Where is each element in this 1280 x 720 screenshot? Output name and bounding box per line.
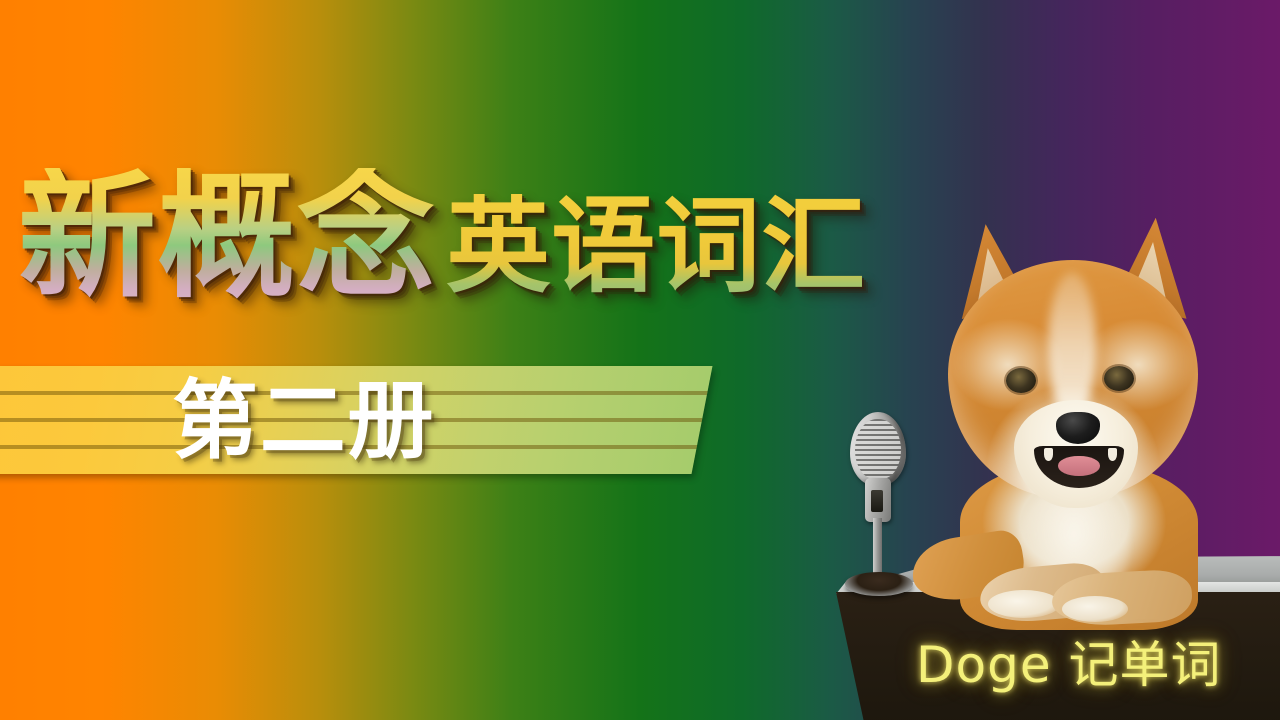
doge-tooth-right [1108,448,1117,461]
title-secondary: 英语词汇 [446,194,866,306]
doge-eye-right [1104,366,1134,391]
microphone-base [845,572,913,596]
doge-eye-left [1006,368,1036,393]
microphone-stem [873,518,882,580]
thumbnail-canvas: 新概念 英语词汇 第二册 [0,0,1280,720]
volume-label: 第二册 [172,378,435,464]
doge-paw-left-toes [988,590,1060,618]
title-block: 新概念 英语词汇 [18,168,1018,328]
title-line: 新概念 英语词汇 [18,168,866,306]
doge-tongue [1058,456,1100,476]
doge-tooth-left [1044,448,1053,461]
microphone-switch [871,490,883,512]
doge-shiba-inu [922,218,1252,618]
microphone-grille [855,419,901,479]
channel-name-label: Doge 记单词 [916,640,1222,690]
doge-paw-right-toes [1062,596,1128,622]
title-primary: 新概念 [18,168,436,306]
microphone-head [850,412,906,486]
